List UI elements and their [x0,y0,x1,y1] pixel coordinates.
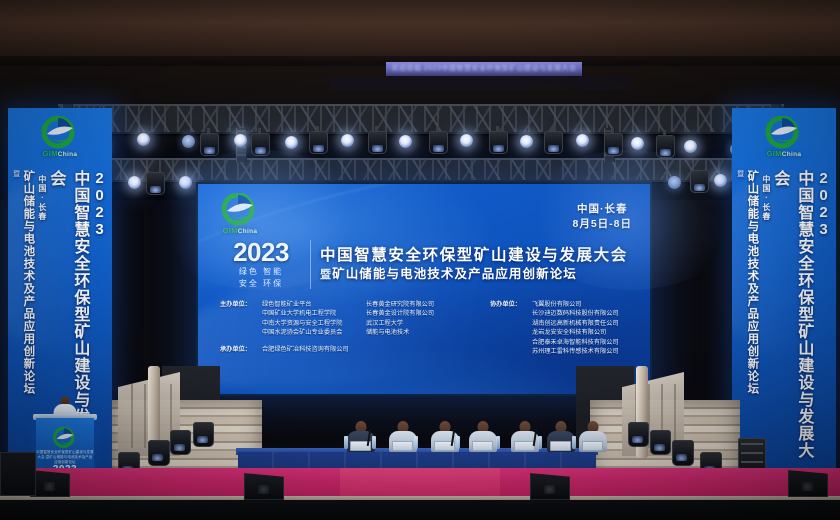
moving-head-light [628,422,649,447]
table-nameplate [550,441,571,451]
moving-head-light [489,131,508,154]
water-bottle [496,436,500,449]
event-date-block: 中国·长春 8月5日-8日 [572,202,632,232]
subwoofer-left [0,452,36,496]
side-banner-right: GIMChina 2023 中国智慧安全环保型矿山建设与发展大会 中国·长春 矿… [732,108,836,468]
par-light [668,176,681,189]
conference-title: 中国智慧安全环保型矿山建设与发展大会 [320,246,628,265]
banner-city: 中国·长春 [762,175,771,468]
gim-mark [217,193,263,227]
par-light [137,133,150,146]
cohost-block: 协办单位： 飞翼股份有限公司 长沙迪迈数码科技股份有限公司 湖南创远高新机械有限… [490,300,640,356]
sponsor-spacer [220,338,482,345]
banner-year: 2023 [93,170,108,468]
cohost-item: 龙岩龙安安全科技有限公司 [532,328,619,337]
host-block: 主办单位： 绿色智能矿业平台 中国矿业大学机电工程学院 中南大学资源与安全工程学… [220,300,482,338]
ceiling-beam [0,0,840,56]
event-dates: 8月5日-8日 [572,217,632,232]
par-light [182,135,195,148]
host-item: 中南大学资源与安全工程学院 [262,319,366,328]
moving-head-light [656,135,675,158]
moving-head-light [148,440,170,466]
par-light [128,176,141,189]
screen-title-row: 2023 绿色 智能 安全 环保 中国智慧安全环保型矿山建设与发展大会 暨矿山储… [218,240,640,289]
moving-head-light [429,131,448,154]
moving-head-light [170,430,191,455]
host-item: 长春黄金研究院有限公司 [366,300,482,309]
slogan-line-1: 绿色 智能 [218,266,304,277]
cohost-item: 飞翼股份有限公司 [532,300,619,309]
slogan-line-2: 安全 环保 [218,278,304,289]
par-light [285,136,298,149]
truss-lattice [92,160,752,180]
par-light [179,176,192,189]
screen-surface: GIMChina 中国·长春 8月5日-8日 2023 绿色 智能 安全 环保 … [198,184,650,394]
gim-logo-icon: GIMChina [756,116,812,163]
host-item: 储能与电池技术 [366,328,482,337]
par-light [520,135,533,148]
par-light [576,134,589,147]
gim-logo-text: GIMChina [32,149,88,158]
moving-head-light [309,131,328,154]
host-list-col2: 长春黄金研究院有限公司 长春黄金设计院有限公司 武汉工程大学 储能与电池技术 [366,300,482,338]
sponsor-section: 主办单位： 绿色智能矿业平台 中国矿业大学机电工程学院 中南大学资源与安全工程学… [220,300,640,356]
stage-monitor-speaker [530,473,570,500]
cohost-item: 合肥泰禾卓海智能科技有限公司 [532,338,619,347]
podium-title: 中国智慧安全环保型矿山建设与发展大会 暨矿山储能与电池技术及产品应用创新论坛 [36,450,94,465]
table-nameplate [582,441,603,451]
water-bottle [572,436,576,449]
forum-title-amp: 暨 [320,269,332,281]
banner-amp: 暨 [12,170,21,468]
water-bottle [538,436,542,449]
sponsor-left-column: 主办单位： 绿色智能矿业平台 中国矿业大学机电工程学院 中南大学资源与安全工程学… [220,300,482,356]
gim-mark [37,116,83,150]
cohost-item: 长沙迪迈数码科技股份有限公司 [532,309,619,318]
forum-title-text: 矿山储能与电池技术及产品应用创新论坛 [332,267,577,281]
host-label: 主办单位： [220,300,262,338]
host-item: 绿色智能矿业平台 [262,300,366,309]
host-lists: 绿色智能矿业平台 中国矿业大学机电工程学院 中南大学资源与安全工程学院 中国水泥… [262,300,482,338]
gim-logo-text: GIMChina [756,149,812,158]
moving-head-light [251,133,270,156]
banner-title-main: 中国智慧安全环保型矿山建设与发展大会 [774,170,815,468]
par-light [460,134,473,147]
year-block: 2023 绿色 智能 安全 环保 [218,240,311,289]
organizer-label: 承办单位： [220,345,262,354]
led-ticker-strip: 欢迎莅临 2023中国智慧安全环保型矿山建设与发展大会 [386,62,582,76]
water-bottle [344,436,348,449]
moving-head-light [604,133,623,156]
moving-head-light [672,440,694,466]
water-bottle [372,436,376,449]
moving-head-light [146,172,165,195]
ticker-backdrop [330,76,630,90]
banner-title-sub: 矿山储能与电池技术及产品应用创新论坛 [747,170,761,468]
truss-upper [58,104,784,134]
moving-head-light [650,430,671,455]
par-light [714,174,727,187]
gim-logo-icon: GIMChina [32,116,88,163]
host-item: 中国矿业大学机电工程学院 [262,309,366,318]
event-city: 中国·长春 [572,202,632,217]
sponsor-right-column: 协办单位： 飞翼股份有限公司 长沙迪迈数码科技股份有限公司 湖南创远高新机械有限… [482,300,640,356]
banner-title-sub: 矿山储能与电池技术及产品应用创新论坛 [23,170,37,468]
par-light [234,134,247,147]
par-light [684,140,697,153]
main-led-screen: GIMChina 中国·长春 8月5日-8日 2023 绿色 智能 安全 环保 … [196,182,652,396]
host-list-col1: 绿色智能矿业平台 中国矿业大学机电工程学院 中南大学资源与安全工程学院 中国水泥… [262,300,366,338]
gim-mark [761,116,807,150]
organizer-item: 合肥绿色矿冶科技咨询有限公司 [262,345,349,354]
water-bottle [456,436,460,449]
banner-vertical-text: 2023 中国智慧安全环保型矿山建设与发展大会 中国·长春 矿山储能与电池技术及… [732,170,836,468]
par-light [631,137,644,150]
moving-head-light [368,131,387,154]
moving-head-light [200,133,219,156]
sponsor-columns: 主办单位： 绿色智能矿业平台 中国矿业大学机电工程学院 中南大学资源与安全工程学… [220,300,640,356]
forum-title: 暨矿山储能与电池技术及产品应用创新论坛 [320,266,628,284]
event-year: 2023 [218,240,304,265]
stage-monitor-speaker [244,473,284,500]
title-block: 中国智慧安全环保型矿山建设与发展大会 暨矿山储能与电池技术及产品应用创新论坛 [311,246,628,284]
banner-year: 2023 [817,170,832,468]
water-bottle [414,436,418,449]
moving-head-light [690,170,709,193]
table-nameplate [514,441,535,451]
cohost-item: 湖南创远高新机械有限责任公司 [532,319,619,328]
conference-stage-photo: 欢迎莅临 2023中国智慧安全环保型矿山建设与发展大会 [0,0,840,520]
stage-monitor-speaker [30,470,70,497]
cohost-item: 苏州理工雷科传感技术有限公司 [532,347,619,356]
table-nameplate [392,441,413,451]
host-item: 中国水泥协会矿山专业委员会 [262,328,366,337]
cohost-label: 协办单位： [490,300,532,356]
house-floor [0,500,840,520]
gim-logo-icon: GIMChina [212,193,268,240]
host-item: 武汉工程大学 [366,319,482,328]
led-ticker-text: 欢迎莅临 2023中国智慧安全环保型矿山建设与发展大会 [386,62,582,76]
truss-lattice [58,106,784,132]
moving-head-light [544,131,563,154]
table-nameplate [472,441,493,451]
organizer-block: 承办单位： 合肥绿色矿冶科技咨询有限公司 [220,345,482,354]
cohost-list: 飞翼股份有限公司 长沙迪迈数码科技股份有限公司 湖南创远高新机械有限责任公司 龙… [532,300,619,356]
gim-logo-text: GIMChina [212,226,268,235]
gim-logo-icon [50,427,80,449]
host-item: 长春黄金设计院有限公司 [366,309,482,318]
stage-monitor-speaker [788,470,828,497]
par-light [399,135,412,148]
moving-head-light [193,422,214,447]
par-light [341,134,354,147]
